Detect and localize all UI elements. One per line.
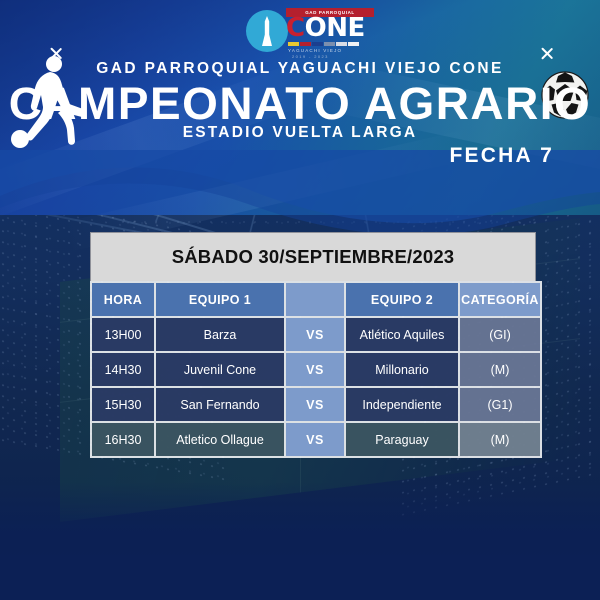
fixture-table: HORA EQUIPO 1 EQUIPO 2 CATEGORÍA 13H00 B… [90, 281, 542, 458]
footer-fade [0, 482, 600, 562]
matchday-badge: FECHA 7 [450, 144, 554, 168]
date-banner: SÁBADO 30/SEPTIEMBRE/2023 [90, 232, 536, 281]
cell-equipo-1: Juvenil Cone [156, 353, 284, 386]
logo-subtext2: 2019 - 2023 [292, 54, 329, 59]
column-header-equipo-2: EQUIPO 2 [346, 283, 458, 316]
table-row: 16H30 Atletico Ollague VS Paraguay (M) [92, 423, 540, 456]
cell-equipo-2: Atlético Aquiles [346, 318, 458, 351]
cell-equipo-2: Paraguay [346, 423, 458, 456]
cell-equipo-2: Independiente [346, 388, 458, 421]
cell-equipo-1: Barza [156, 318, 284, 351]
cell-hora: 14H30 [92, 353, 154, 386]
cell-equipo-2: Millonario [346, 353, 458, 386]
date-banner-text: SÁBADO 30/SEPTIEMBRE/2023 [172, 246, 455, 268]
column-header-categoria: CATEGORÍA [460, 283, 540, 316]
fixture-table-container: SÁBADO 30/SEPTIEMBRE/2023 HORA EQUIPO 1 … [90, 232, 536, 458]
page-title: CAMPEONATO AGRARIO [0, 80, 600, 127]
cell-vs: VS [286, 353, 344, 386]
cone-logo: GAD PARROQUIAL CONE YAGUACHI VIEJO 2019 … [246, 2, 376, 60]
cell-categoria: (G1) [460, 388, 540, 421]
logo-letters-one: ONE [305, 13, 365, 43]
cell-categoria: (M) [460, 423, 540, 456]
event-kicker: GAD PARROQUIAL YAGUACHI VIEJO CONE [0, 60, 600, 78]
table-row: 15H30 San Fernando VS Independiente (G1) [92, 388, 540, 421]
cell-vs: VS [286, 388, 344, 421]
cell-equipo-1: San Fernando [156, 388, 284, 421]
table-row: 14H30 Juvenil Cone VS Millonario (M) [92, 353, 540, 386]
logo-subtext: YAGUACHI VIEJO [288, 48, 342, 53]
cell-vs: VS [286, 318, 344, 351]
x-mark-icon-right [539, 46, 554, 61]
cell-categoria: (M) [460, 353, 540, 386]
cell-categoria: (GI) [460, 318, 540, 351]
column-header-vs [286, 283, 344, 316]
table-row: 13H00 Barza VS Atlético Aquiles (GI) [92, 318, 540, 351]
cell-hora: 13H00 [92, 318, 154, 351]
cell-hora: 16H30 [92, 423, 154, 456]
logo-letter-c: C [286, 13, 305, 43]
poster-canvas: GAD PARROQUIAL CONE YAGUACHI VIEJO 2019 … [0, 0, 600, 600]
logo-wordmark: CONE [286, 15, 365, 41]
cell-equipo-1: Atletico Ollague [156, 423, 284, 456]
column-header-equipo-1: EQUIPO 1 [156, 283, 284, 316]
cell-vs: VS [286, 423, 344, 456]
cell-hora: 15H30 [92, 388, 154, 421]
logo-color-bars [288, 42, 359, 46]
venue-subtitle: ESTADIO VUELTA LARGA [0, 124, 600, 142]
footer-band [0, 562, 600, 600]
column-header-hora: HORA [92, 283, 154, 316]
table-header-row: HORA EQUIPO 1 EQUIPO 2 CATEGORÍA [92, 283, 540, 316]
